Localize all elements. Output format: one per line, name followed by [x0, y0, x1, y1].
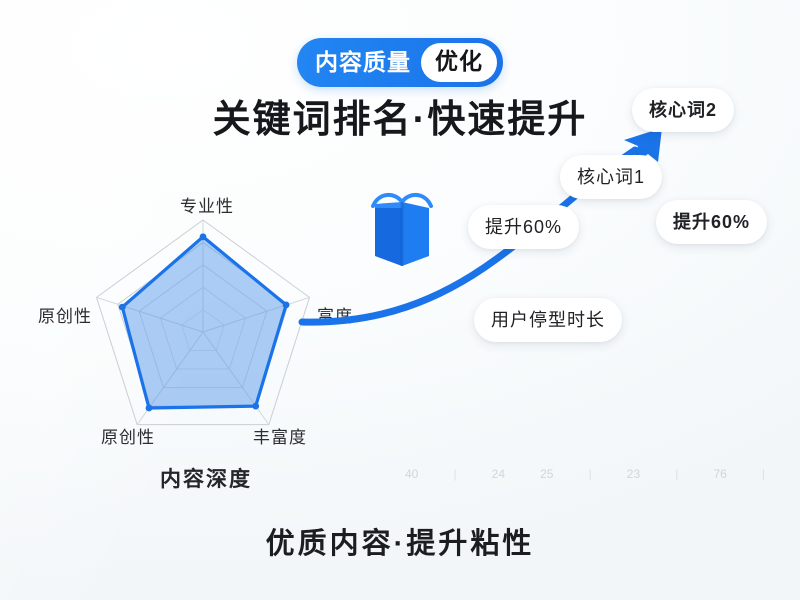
callout-uplift-left[interactable]: 提升60% — [468, 205, 579, 249]
radar-label-bottom-left: 原创性 — [101, 423, 155, 448]
radar-label-bottom-right: 丰富度 — [253, 423, 307, 448]
axis-tick-6: | — [675, 467, 678, 481]
poster-canvas: 内容质量 优化 关键词排名·快速提升 — [0, 0, 800, 600]
badge-chip-label: 优化 — [421, 43, 497, 82]
bottom-tagline: 优质内容·提升粘性 — [0, 520, 800, 562]
callout-uplift-right[interactable]: 提升60% — [656, 200, 767, 244]
axis-tick-0: 40 — [405, 467, 418, 481]
quality-badge[interactable]: 内容质量 优化 — [297, 38, 503, 87]
callout-core-keyword-1[interactable]: 核心词1 — [560, 155, 662, 199]
radar-label-left: 原创性 — [38, 302, 92, 327]
badge-container: 内容质量 优化 — [0, 38, 800, 87]
radar-label-top: 专业性 — [180, 192, 234, 217]
callout-core-keyword-2[interactable]: 核心词2 — [632, 88, 734, 132]
axis-tick-5: 23 — [627, 467, 640, 481]
axis-tick-7: 76 — [713, 467, 726, 481]
axis-tick-1: | — [453, 467, 456, 481]
callout-dwell-time[interactable]: 用户停型时长 — [474, 298, 622, 342]
axis-tick-8: | — [762, 467, 765, 481]
badge-main-label: 内容质量 — [315, 51, 421, 74]
axis-tick-2: 24 — [492, 467, 505, 481]
axis-tick-4: | — [589, 467, 592, 481]
radar-caption: 内容深度 — [160, 463, 252, 493]
faint-axis-strip: 40 | 24 25 | 23 | 76 | — [405, 462, 765, 486]
axis-tick-3: 25 — [540, 467, 553, 481]
open-book-icon-svg — [371, 186, 433, 272]
open-book-icon — [371, 186, 433, 272]
